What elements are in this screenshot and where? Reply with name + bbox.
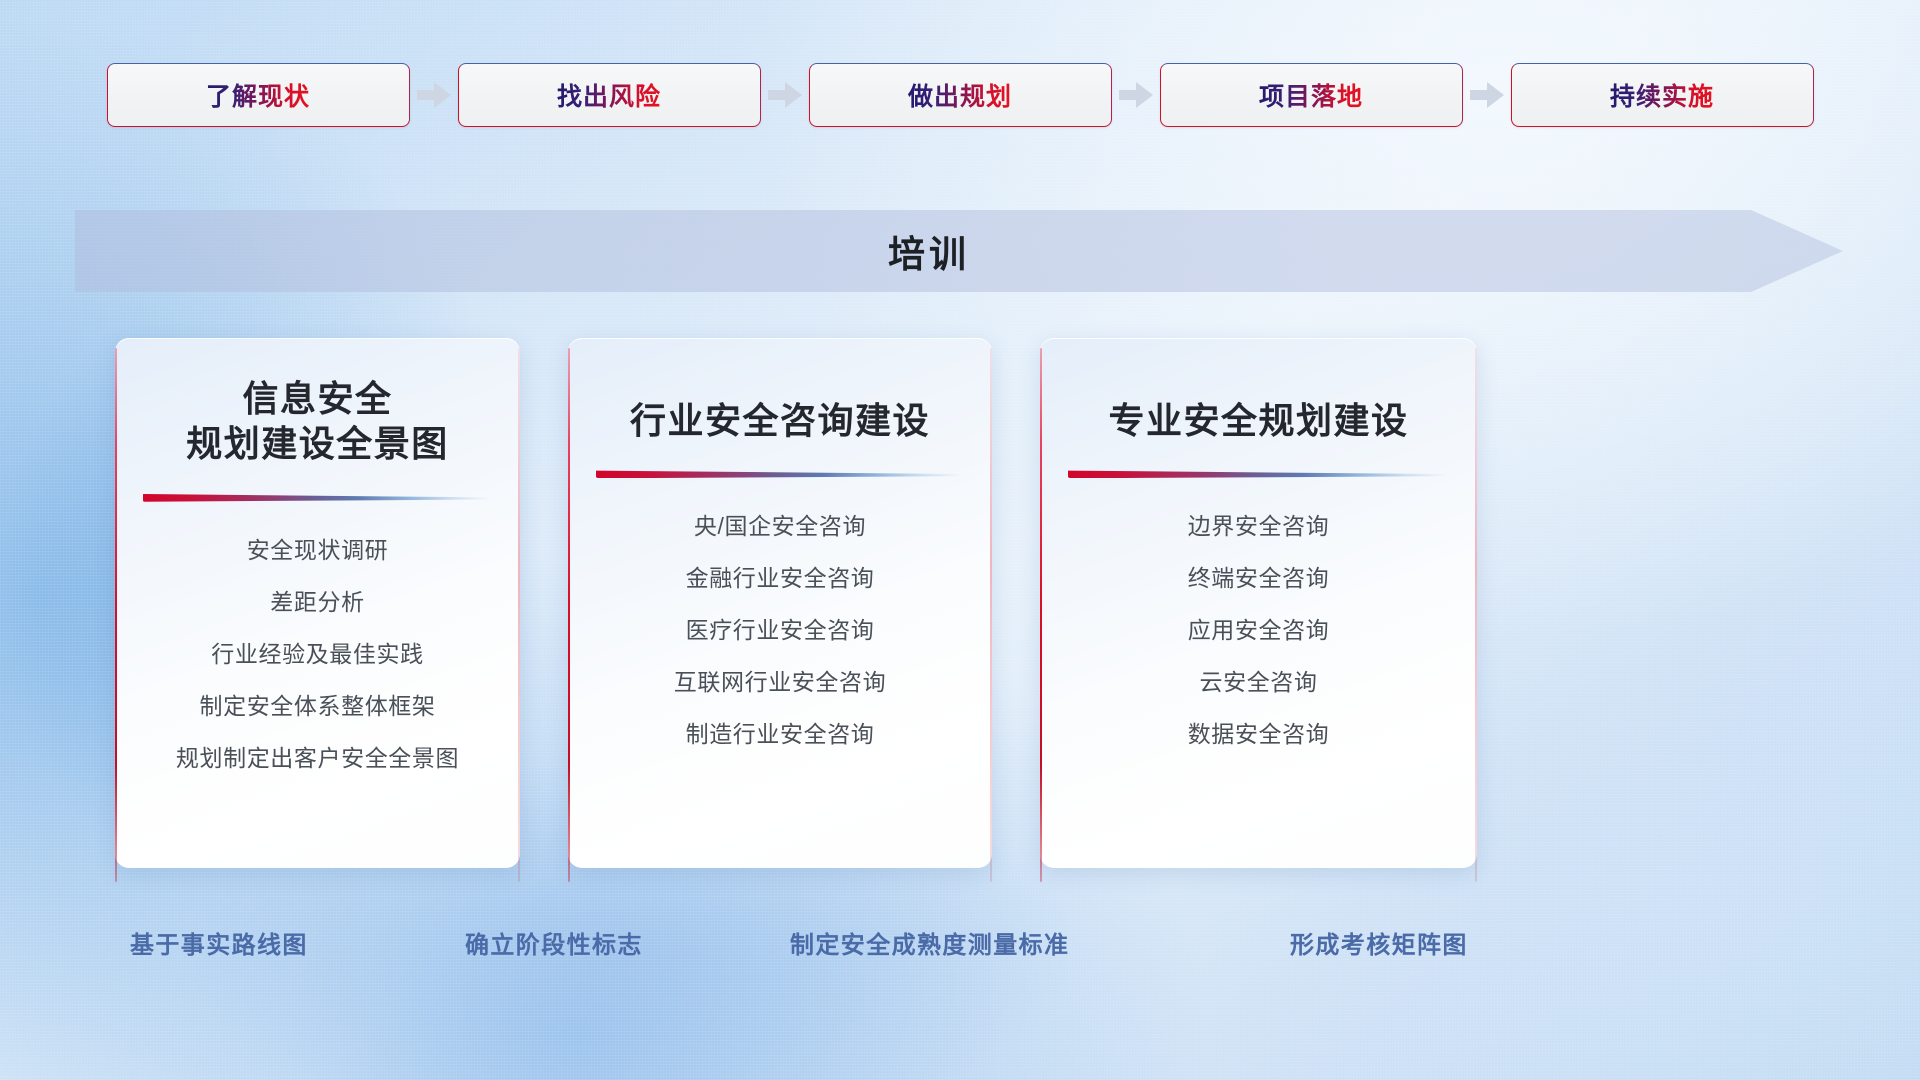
step-label: 持续实施 [1610,77,1714,113]
caption-row: 基于事实路线图 确立阶段性标志 制定安全成熟度测量标准 形成考核矩阵图 [0,925,1920,973]
step-box-1[interactable]: 了解现状 [107,63,410,127]
list-item: 数据安全咨询 [1188,715,1330,749]
list-item: 互联网行业安全咨询 [674,663,886,697]
card-title-line1: 专业安全规划建设 [1056,398,1461,443]
list-item: 制造行业安全咨询 [686,715,875,749]
training-banner: 培训 [75,210,1843,292]
caption-text: 形成考核矩阵图 [1290,925,1468,960]
list-item: 应用安全咨询 [1188,611,1330,645]
list-item: 终端安全咨询 [1188,559,1330,593]
card-title-line1: 行业安全咨询建设 [584,398,976,443]
caption-text: 制定安全成熟度测量标准 [790,925,1069,960]
card-divider [1068,469,1447,479]
list-item: 差距分析 [270,583,364,617]
card-row: 信息安全 规划建设全景图 安全现状调研 差距分析 行业经验及最佳实践 制定安全体… [0,338,1920,868]
chevron-right-icon [768,82,802,108]
card-information-security-panorama[interactable]: 信息安全 规划建设全景图 安全现状调研 差距分析 行业经验及最佳实践 制定安全体… [115,338,520,868]
chevron-right-icon [1119,82,1153,108]
list-item: 行业经验及最佳实践 [211,635,423,669]
card-title: 专业安全规划建设 [1040,338,1477,443]
card-item-list: 安全现状调研 差距分析 行业经验及最佳实践 制定安全体系整体框架 规划制定出客户… [115,531,520,773]
card-industry-security-consulting[interactable]: 行业安全咨询建设 央/国企安全咨询 金融行业安全咨询 医疗行业安全咨询 互联网行… [568,338,992,868]
caption-text: 确立阶段性标志 [465,925,643,960]
card-professional-security-planning[interactable]: 专业安全规划建设 边界安全咨询 终端安全咨询 应用安全咨询 云安全咨询 数据安全… [1040,338,1477,868]
process-step-strip: 了解现状 找出风险 做出规划 项目落地 持续实施 [0,62,1920,128]
step-arrow-1 [410,82,458,108]
card-title-line2: 规划建设全景图 [131,421,504,466]
step-box-5[interactable]: 持续实施 [1511,63,1814,127]
step-label: 找出风险 [557,77,661,113]
chevron-right-icon [417,82,451,108]
list-item: 央/国企安全咨询 [694,507,866,541]
list-item: 边界安全咨询 [1188,507,1330,541]
list-item: 医疗行业安全咨询 [686,611,875,645]
list-item: 规划制定出客户安全全景图 [176,739,459,773]
step-arrow-3 [1112,82,1160,108]
card-title-line1: 信息安全 [131,376,504,421]
card-title: 信息安全 规划建设全景图 [115,338,520,467]
step-box-3[interactable]: 做出规划 [809,63,1112,127]
card-item-list: 央/国企安全咨询 金融行业安全咨询 医疗行业安全咨询 互联网行业安全咨询 制造行… [568,507,992,749]
list-item: 金融行业安全咨询 [686,559,875,593]
caption-text: 基于事实路线图 [130,925,308,960]
card-divider [596,469,962,479]
list-item: 安全现状调研 [247,531,389,565]
list-item: 制定安全体系整体框架 [200,687,436,721]
banner-title: 培训 [75,210,1843,292]
card-divider [143,493,490,503]
step-label: 项目落地 [1259,77,1363,113]
step-label: 做出规划 [908,77,1012,113]
chevron-right-icon [1470,82,1504,108]
card-title: 行业安全咨询建设 [568,338,992,443]
card-item-list: 边界安全咨询 终端安全咨询 应用安全咨询 云安全咨询 数据安全咨询 [1040,507,1477,749]
step-box-2[interactable]: 找出风险 [458,63,761,127]
step-box-4[interactable]: 项目落地 [1160,63,1463,127]
list-item: 云安全咨询 [1200,663,1318,697]
step-arrow-2 [761,82,809,108]
step-label: 了解现状 [206,77,310,113]
step-arrow-4 [1463,82,1511,108]
